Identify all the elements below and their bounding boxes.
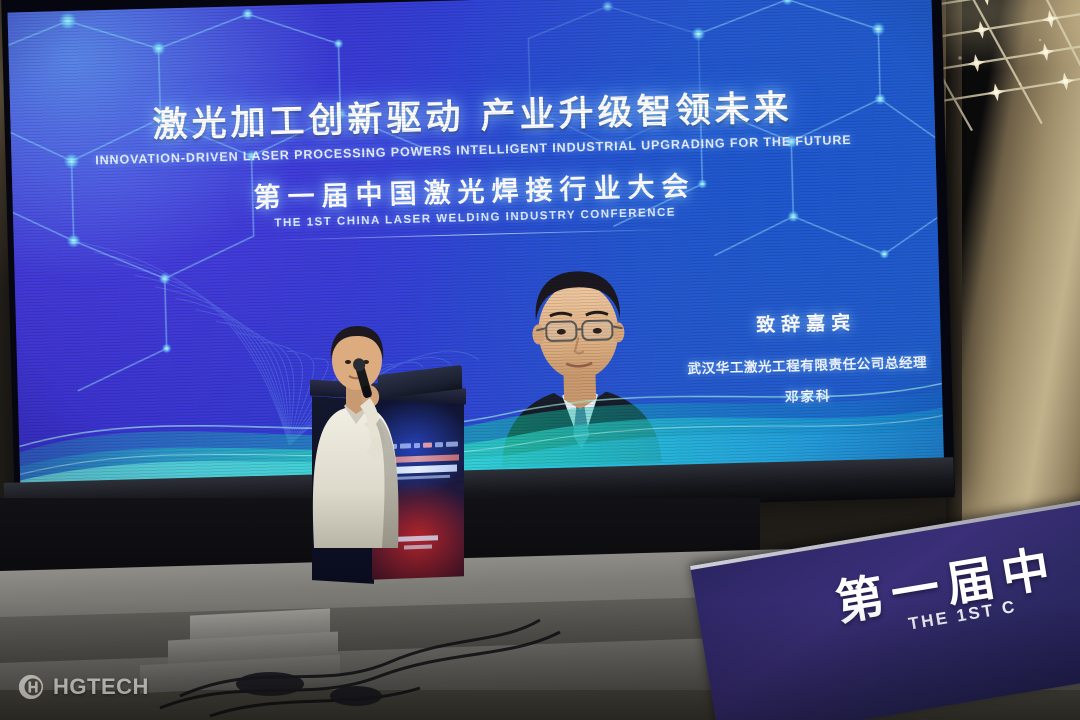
led-screen: 激光加工创新驱动 产业升级智领未来 INNOVATION-DRIVEN LASE…	[8, 0, 945, 492]
hgtech-brand-text: HGTECH	[53, 674, 149, 700]
hgtech-watermark: HGTECH	[18, 674, 149, 700]
hgtech-circle-h-icon	[18, 674, 44, 700]
screen-vignette	[8, 0, 945, 492]
led-screen-frame: 激光加工创新驱动 产业升级智领未来 INNOVATION-DRIVEN LASE…	[1, 0, 955, 519]
conference-photo-scene: 激光加工创新驱动 产业升级智领未来 INNOVATION-DRIVEN LASE…	[0, 0, 1080, 720]
presenter-at-podium	[296, 318, 416, 548]
stage-cables	[120, 600, 640, 720]
